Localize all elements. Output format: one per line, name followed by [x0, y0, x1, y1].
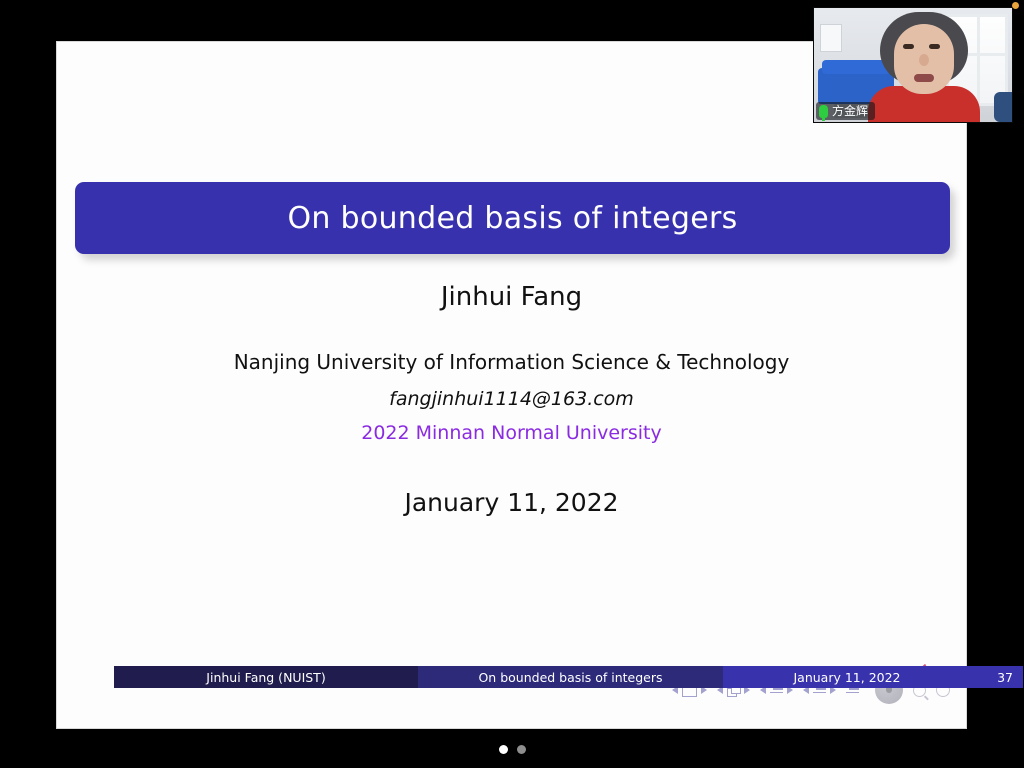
slide-title-block: On bounded basis of integers — [75, 182, 950, 254]
author-email: fangjinhui1114@163.com — [57, 388, 966, 410]
affiliation-text: Nanjing University of Information Scienc… — [57, 350, 966, 374]
participant-name: 方金辉 — [832, 105, 868, 117]
footer-page-number: 37 — [997, 666, 1013, 688]
pagination-dot-inactive[interactable] — [517, 745, 526, 754]
eye-right — [929, 44, 940, 49]
slide-canvas: On bounded basis of integers Jinhui Fang… — [57, 42, 966, 728]
webcam-video-tile[interactable]: 方金辉 — [814, 8, 1012, 122]
eye-left — [903, 44, 914, 49]
pagination-dots[interactable] — [0, 745, 1024, 754]
venue-text: 2022 Minnan Normal University — [57, 422, 966, 444]
recording-dot — [1012, 2, 1019, 9]
page-title: On bounded basis of integers — [287, 201, 737, 236]
participant-name-badge: 方金辉 — [816, 102, 875, 120]
footer-author: Jinhui Fang (NUIST) — [114, 666, 418, 688]
footer-right: January 11, 2022 37 — [723, 666, 1023, 688]
mic-unmuted-icon — [819, 105, 828, 118]
presentation-date: January 11, 2022 — [57, 488, 966, 517]
pagination-dot-active[interactable] — [499, 745, 508, 754]
presentation-screen: On bounded basis of integers Jinhui Fang… — [0, 0, 1024, 768]
author-name: Jinhui Fang — [57, 282, 966, 312]
slide-footer: Jinhui Fang (NUIST) On bounded basis of … — [114, 666, 1023, 688]
wall-picture — [820, 24, 842, 52]
slide-title-bar: On bounded basis of integers — [75, 182, 950, 254]
footer-date: January 11, 2022 — [723, 670, 1023, 685]
mouth — [914, 74, 934, 82]
slide-body: Jinhui Fang Nanjing University of Inform… — [57, 282, 966, 517]
chair-object — [994, 92, 1012, 122]
nose — [919, 54, 929, 66]
participant-figure — [872, 12, 976, 122]
footer-title: On bounded basis of integers — [418, 666, 723, 688]
